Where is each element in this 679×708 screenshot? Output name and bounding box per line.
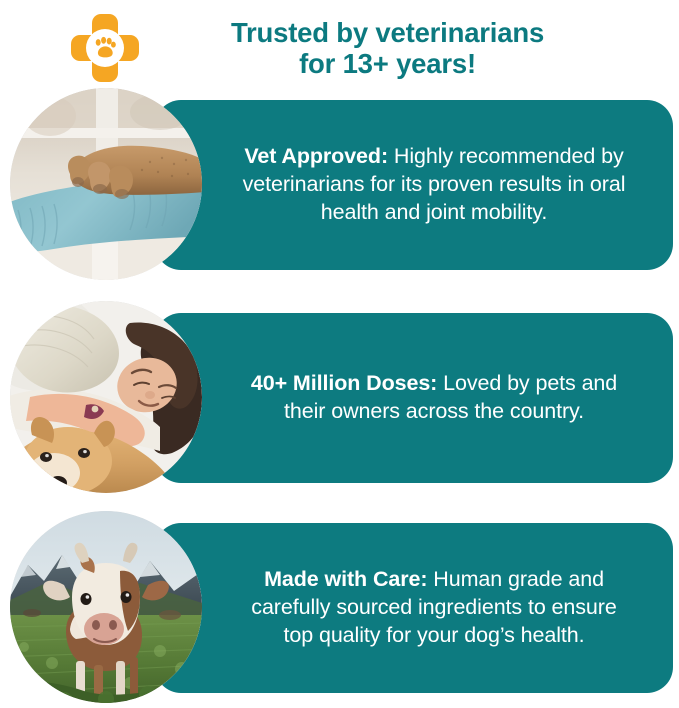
feature-card-text: Made with Care: Human grade and carefull…	[234, 566, 634, 650]
feature-card-text: 40+ Million Doses: Loved by pets and the…	[234, 370, 634, 426]
feature-card-panel: Made with Care: Human grade and carefull…	[155, 523, 673, 693]
veterinary-cross-paw-badge-icon	[68, 12, 140, 84]
woman-hugging-shiba-inu-illustration	[10, 301, 202, 493]
feature-image-woman-hugging-shiba-inu	[10, 301, 202, 493]
feature-card-heading: 40+ Million Doses:	[251, 371, 437, 395]
feature-card-heading: Vet Approved:	[244, 144, 388, 168]
cow-in-alpine-pasture-illustration	[10, 511, 202, 703]
feature-row-made-with-care: Made with Care: Human grade and carefull…	[0, 511, 679, 703]
feature-card-panel: 40+ Million Doses: Loved by pets and the…	[155, 313, 673, 483]
feature-image-cow-in-alpine-pasture	[10, 511, 202, 703]
feature-image-dog-paw-on-gloved-hand	[10, 88, 202, 280]
paw-print-icon	[86, 29, 124, 67]
feature-card-text: Vet Approved: Highly recommended by vete…	[234, 143, 634, 227]
page-headline: Trusted by veterinarians for 13+ years!	[150, 17, 679, 80]
dog-paw-on-gloved-hand-illustration	[10, 88, 202, 280]
header-banner: Trusted by veterinarians for 13+ years!	[0, 0, 679, 96]
feature-card-panel: Vet Approved: Highly recommended by vete…	[155, 100, 673, 270]
feature-card-heading: Made with Care:	[264, 567, 427, 591]
feature-row-million-doses: 40+ Million Doses: Loved by pets and the…	[0, 301, 679, 493]
feature-row-vet-approved: Vet Approved: Highly recommended by vete…	[0, 88, 679, 280]
